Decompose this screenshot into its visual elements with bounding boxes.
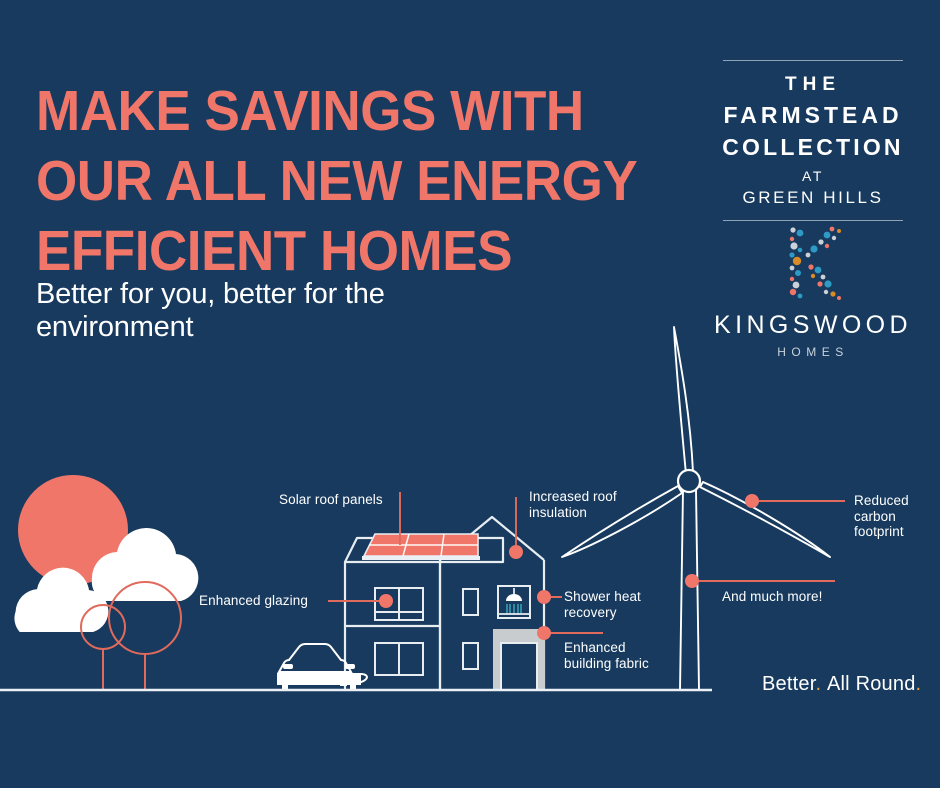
cloud-icon bbox=[92, 528, 199, 601]
annotation-label-reduced-carbon-footprint: Reduced carbon footprint bbox=[854, 493, 909, 540]
window-icon bbox=[375, 643, 423, 675]
headline-subtitle: Better for you, better for the environme… bbox=[36, 278, 506, 344]
kingswood-homes-sub: HOMES bbox=[700, 345, 926, 359]
tree-icon bbox=[109, 582, 181, 690]
annotation-label-enhanced-glazing: Enhanced glazing bbox=[199, 593, 308, 609]
house-icon bbox=[345, 538, 503, 690]
kingswood-name: KINGSWOOD bbox=[700, 311, 926, 340]
divider-bottom bbox=[723, 220, 903, 221]
farmstead-the: THE bbox=[700, 74, 926, 96]
annotation-label-and-much-more: And much more! bbox=[722, 589, 822, 605]
kingswood-k-dot-monogram-icon bbox=[763, 222, 863, 304]
leader-dot-insulation bbox=[509, 545, 523, 559]
window-icon bbox=[463, 643, 478, 669]
window-icon bbox=[463, 589, 478, 615]
charging-cable-icon bbox=[340, 674, 367, 686]
annotation-label-enhanced-building-fabric: Enhanced building fabric bbox=[564, 640, 649, 671]
house-icon bbox=[440, 517, 544, 690]
tagline-dot-2: . bbox=[916, 673, 922, 695]
headline-line-2: OUR ALL NEW ENERGY bbox=[36, 146, 650, 216]
advert-canvas: MAKE SAVINGS WITH OUR ALL NEW ENERGY EFF… bbox=[0, 0, 940, 788]
leader-dot-carbon bbox=[745, 494, 759, 508]
tagline-word-2-text: All Round bbox=[827, 673, 916, 695]
electric-car-icon bbox=[277, 644, 361, 690]
headline-line-1: MAKE SAVINGS WITH bbox=[36, 76, 650, 146]
farmstead-name: FARMSTEAD bbox=[700, 102, 926, 129]
tagline-word-1: Better bbox=[762, 673, 815, 695]
farmstead-at: AT bbox=[700, 168, 926, 184]
door-icon bbox=[493, 629, 545, 690]
divider-top bbox=[723, 60, 903, 61]
solar-panel-icon bbox=[362, 534, 480, 560]
annotation-label-solar-roof-panels: Solar roof panels bbox=[279, 492, 383, 508]
headline-line-3: EFFICIENT HOMES bbox=[36, 216, 650, 286]
farmstead-location: GREEN HILLS bbox=[700, 188, 926, 208]
headline-block: MAKE SAVINGS WITH OUR ALL NEW ENERGY EFF… bbox=[36, 76, 696, 286]
farmstead-collection: COLLECTION bbox=[700, 134, 926, 161]
brand-tagline: Better. All Round. bbox=[762, 673, 921, 696]
annotation-label-increased-roof-insulation: Increased roof insulation bbox=[529, 489, 617, 520]
cloud-icon bbox=[14, 568, 108, 632]
kingswood-homes-logo: KINGSWOOD HOMES bbox=[700, 222, 926, 359]
farmstead-collection-logo: THE FARMSTEAD COLLECTION AT GREEN HILLS bbox=[700, 52, 926, 221]
leader-dot-fabric bbox=[537, 626, 551, 640]
window-icon bbox=[375, 588, 423, 620]
leader-dot-shower bbox=[537, 590, 551, 604]
sun-icon bbox=[18, 475, 128, 585]
leader-dot-glazing bbox=[379, 594, 393, 608]
tree-icon bbox=[81, 605, 125, 690]
shower-icon bbox=[498, 586, 530, 618]
leader-dot-more bbox=[685, 574, 699, 588]
annotation-label-shower-heat-recovery: Shower heat recovery bbox=[564, 589, 641, 620]
